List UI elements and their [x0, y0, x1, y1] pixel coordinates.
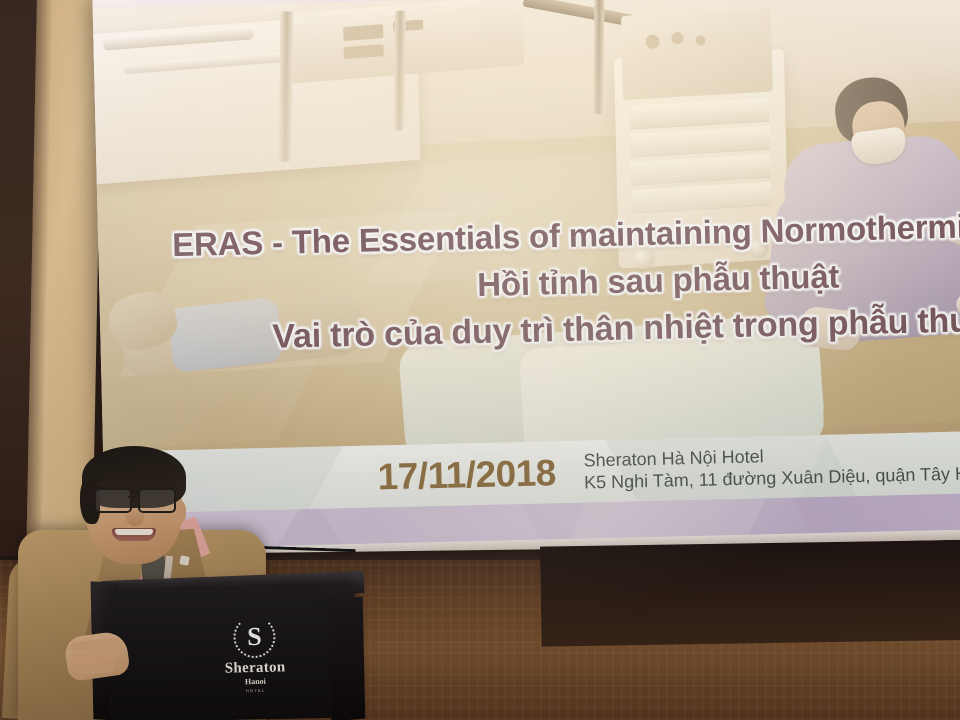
- patient-drape: [519, 332, 825, 452]
- speaker-teeth: [115, 529, 153, 535]
- event-date: 17/11/2018: [377, 454, 556, 495]
- equipment-pole: [393, 11, 405, 131]
- patient-sleeve: [167, 297, 283, 373]
- eyeglasses-icon: [92, 488, 178, 510]
- wall-right-shadow: [540, 540, 960, 647]
- logo-monogram: S: [233, 616, 276, 659]
- conference-photo-scene: to Life.: [0, 0, 960, 720]
- glasses-bridge: [128, 496, 140, 498]
- logo-subtitle: HOTEL: [201, 687, 311, 694]
- projection-screen: to Life.: [92, 0, 960, 560]
- slide-photo-operating-room: ◦ ◦◦ ◦: [93, 0, 960, 452]
- wreath-icon: S: [233, 616, 276, 659]
- cart-top-panel: [621, 7, 773, 100]
- glasses-lens: [138, 488, 176, 513]
- nurse-gloved-hand: [798, 305, 862, 352]
- speaker-finger: [74, 662, 114, 673]
- footer-divider: [569, 450, 570, 494]
- equipment-pole: [279, 11, 294, 161]
- speaker-nose: [126, 508, 144, 526]
- logo-city-name: Hanoi: [200, 677, 310, 687]
- sheraton-logo: S Sheraton Hanoi HOTEL: [199, 615, 311, 709]
- podium-side-panel: [329, 596, 365, 720]
- logo-brand-name: Sheraton: [200, 660, 310, 677]
- glasses-lens: [94, 488, 132, 513]
- iv-pole: [593, 0, 604, 114]
- lapel-pin-icon: [179, 555, 189, 565]
